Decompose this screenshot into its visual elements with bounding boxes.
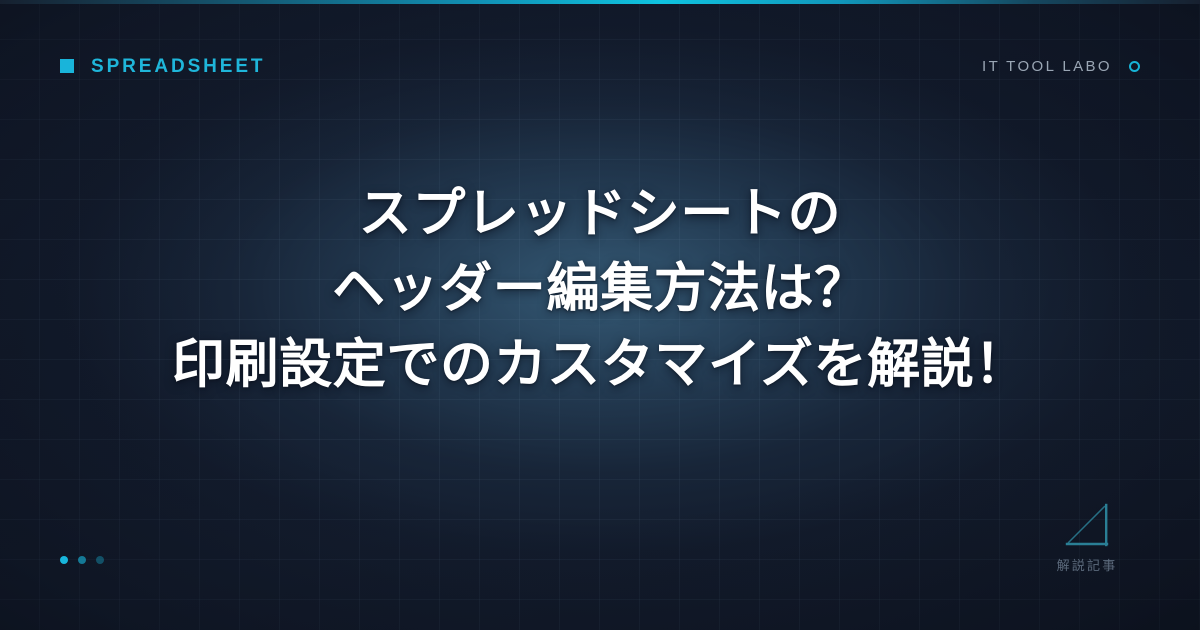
header: SPREADSHEET IT TOOL LABO: [0, 48, 1200, 84]
circle-outline-icon: [1129, 61, 1140, 72]
title-line-3: 印刷設定でのカスタマイズを解説！: [0, 327, 1200, 402]
dot-1: [60, 556, 68, 564]
title-line-2: ヘッダー編集方法は？: [0, 251, 1200, 326]
three-dots-indicator: [60, 556, 104, 564]
page-title: スプレッドシートの ヘッダー編集方法は？ 印刷設定でのカスタマイズを解説！: [0, 176, 1200, 402]
thumbnail-canvas: SPREADSHEET IT TOOL LABO スプレッドシートの ヘッダー編…: [0, 0, 1200, 630]
dot-2: [78, 556, 86, 564]
filled-square-icon: [60, 59, 74, 73]
article-type-badge: 解説記事: [1032, 502, 1142, 572]
site-label: IT TOOL LABO: [982, 59, 1112, 74]
site-identity: IT TOOL LABO: [982, 59, 1140, 74]
brand: SPREADSHEET: [60, 57, 265, 76]
top-accent-bar: [0, 0, 1200, 4]
article-type-label: 解説記事: [1057, 559, 1118, 572]
brand-label: SPREADSHEET: [91, 57, 265, 76]
line-chart-growth-icon: [1064, 502, 1110, 548]
dot-3: [96, 556, 104, 564]
title-line-1: スプレッドシートの: [0, 176, 1200, 251]
